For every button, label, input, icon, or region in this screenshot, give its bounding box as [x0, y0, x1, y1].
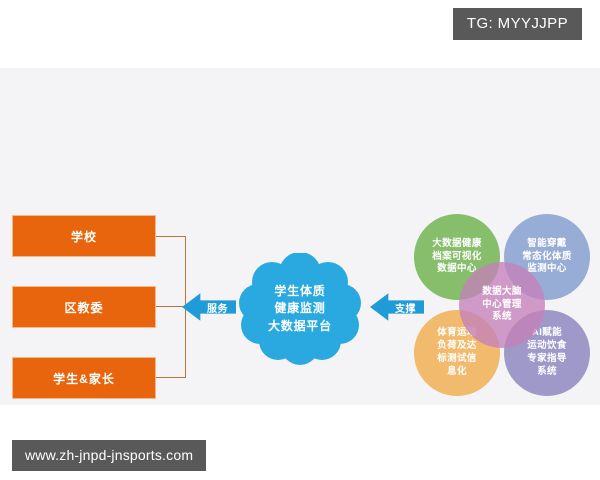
- cloud-line-2: 健康监测: [274, 300, 325, 317]
- org-box-students-parents-label: 学生&家长: [53, 370, 115, 387]
- service-arrow-label: 服务: [207, 300, 236, 315]
- line-3: 标测试信: [437, 353, 477, 366]
- line-1: 数据大脑: [482, 286, 522, 299]
- line-4: 息化: [437, 366, 477, 379]
- central-platform-cloud: 学生体质 健康监测 大数据平台: [238, 253, 362, 365]
- cloud-line-3: 大数据平台: [268, 318, 332, 335]
- line-2: 档案可视化: [432, 251, 482, 264]
- line-2: 运动饮食: [527, 340, 567, 353]
- org-box-school[interactable]: 学校: [12, 215, 156, 257]
- circle-data-brain-management[interactable]: 数据大脑 中心管理 系统: [459, 262, 545, 348]
- service-arrow: 服务: [182, 292, 236, 322]
- org-box-students-parents[interactable]: 学生&家长: [12, 357, 156, 399]
- cloud-line-1: 学生体质: [274, 283, 325, 300]
- line-4: 系统: [527, 366, 567, 379]
- circle-ai-diet-expert-system-text: AI赋能 运动饮食 专家指导 系统: [527, 327, 567, 378]
- org-box-district-education[interactable]: 区教委: [12, 286, 156, 328]
- circle-data-brain-management-text: 数据大脑 中心管理 系统: [482, 286, 522, 324]
- cloud-text-block: 学生体质 健康监测 大数据平台: [238, 253, 362, 365]
- diagram-card: 学校 区教委 学生&家长 服务: [0, 68, 600, 405]
- line-2: 负荷及达: [437, 340, 477, 353]
- line-2: 中心管理: [482, 299, 522, 312]
- line-1: 智能穿戴: [522, 238, 572, 251]
- url-watermark-badge: www.zh-jnpd-jnsports.com: [12, 440, 206, 471]
- capability-circles-group: 大数据健康 档案可视化 数据中心 智能穿戴 常态化体质 监测中心 体育运动 负荷…: [408, 206, 598, 406]
- support-arrow-label: 支撑: [395, 300, 424, 315]
- line-1: 大数据健康: [432, 238, 482, 251]
- tag-watermark-badge: TG: MYYJJPP: [453, 8, 582, 40]
- screenshot-root: TG: MYYJJPP 学校 区教委 学生&家长 服务: [0, 0, 600, 480]
- org-box-district-education-label: 区教委: [64, 299, 103, 316]
- line-3: 专家指导: [527, 353, 567, 366]
- line-2: 常态化体质: [522, 251, 572, 264]
- org-box-school-label: 学校: [71, 228, 97, 245]
- circle-smart-wearable-monitoring-text: 智能穿戴 常态化体质 监测中心: [522, 238, 572, 276]
- line-3: 系统: [482, 311, 522, 324]
